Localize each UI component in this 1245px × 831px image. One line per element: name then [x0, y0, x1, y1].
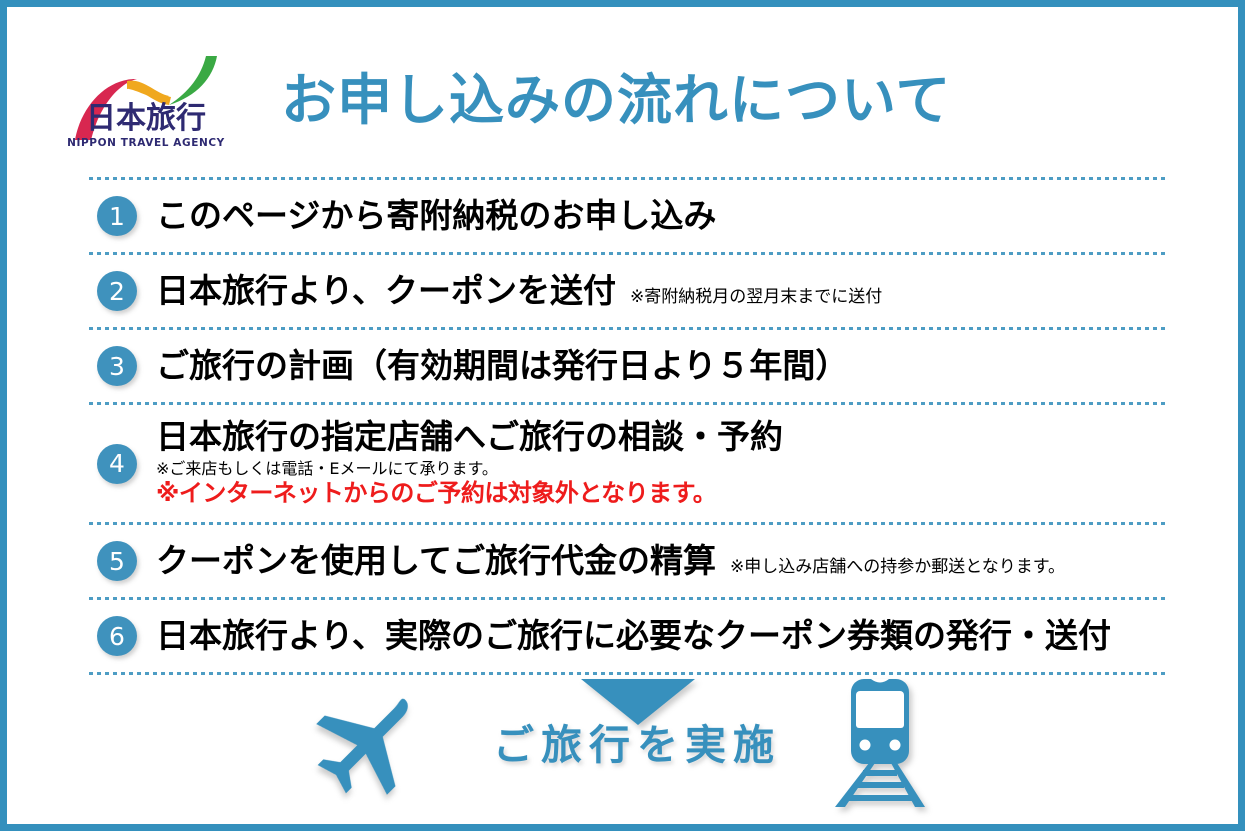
logo-svg: 日本旅行 NIPPON TRAVEL AGENCY: [65, 48, 228, 152]
step-title: 日本旅行より、クーポンを送付: [156, 273, 616, 310]
page-title: お申し込みの流れについて: [281, 73, 951, 128]
step-note: ※申し込み店舗への持参か郵送となります。: [730, 559, 1065, 576]
nippon-travel-agency-logo: 日本旅行 NIPPON TRAVEL AGENCY: [65, 48, 228, 152]
bottom-caption: ご旅行を実施: [477, 723, 797, 768]
logo-jp-text: 日本旅行: [86, 101, 206, 136]
step-number-badge: 2: [97, 271, 137, 311]
step-main-line: このページから寄附納税のお申し込み: [156, 198, 716, 235]
infographic-page: 日本旅行 NIPPON TRAVEL AGENCY お申し込みの流れについて 1…: [0, 0, 1245, 831]
step-body: 日本旅行の指定店舗へご旅行の相談・予約 ※ご来店もしくは電話・Eメールにて承りま…: [156, 419, 783, 508]
step-number-badge: 4: [97, 444, 137, 484]
step-item: 5 クーポンを使用してご旅行代金の精算 ※申し込み店舗への持参か郵送となります。: [89, 525, 1169, 597]
step-item: 6 日本旅行より、実際のご旅行に必要なクーポン券類の発行・送付: [89, 600, 1169, 672]
step-title: クーポンを使用してご旅行代金の精算: [156, 543, 716, 580]
step-main-line: 日本旅行より、クーポンを送付 ※寄附納税月の翌月末までに送付: [156, 273, 882, 310]
step-item: 2 日本旅行より、クーポンを送付 ※寄附納税月の翌月末までに送付: [89, 255, 1169, 327]
step-item: 4 日本旅行の指定店舗へご旅行の相談・予約 ※ご来店もしくは電話・Eメールにて承…: [89, 405, 1169, 522]
step-number-badge: 3: [97, 346, 137, 386]
step-body: このページから寄附納税のお申し込み: [156, 198, 716, 235]
step-title: このページから寄附納税のお申し込み: [156, 198, 716, 235]
header: 日本旅行 NIPPON TRAVEL AGENCY お申し込みの流れについて: [65, 40, 1185, 160]
step-number-badge: 5: [97, 541, 137, 581]
step-title: 日本旅行より、実際のご旅行に必要なクーポン券類の発行・送付: [156, 618, 1111, 655]
step-main-line: クーポンを使用してご旅行代金の精算 ※申し込み店舗への持参か郵送となります。: [156, 543, 1065, 580]
step-number-badge: 6: [97, 616, 137, 656]
step-body: クーポンを使用してご旅行代金の精算 ※申し込み店舗への持参か郵送となります。: [156, 543, 1065, 580]
train-icon: [833, 677, 933, 812]
step-body: 日本旅行より、クーポンを送付 ※寄附納税月の翌月末までに送付: [156, 273, 882, 310]
step-main-line: 日本旅行の指定店舗へご旅行の相談・予約: [156, 419, 783, 456]
step-main-line: ご旅行の計画（有効期間は発行日より５年間）: [156, 348, 848, 385]
step-item: 3 ご旅行の計画（有効期間は発行日より５年間）: [89, 330, 1169, 402]
logo-en-text: NIPPON TRAVEL AGENCY: [67, 137, 225, 149]
airplane-icon: [310, 681, 430, 801]
steps-list: 1 このページから寄附納税のお申し込み 2 日本旅行より、クーポンを送付 ※寄附…: [89, 177, 1169, 675]
down-arrow-icon: [573, 677, 703, 727]
step-number-badge: 1: [97, 196, 137, 236]
step-body: 日本旅行より、実際のご旅行に必要なクーポン券類の発行・送付: [156, 618, 1111, 655]
step-title: ご旅行の計画（有効期間は発行日より５年間）: [156, 348, 848, 385]
step-warning-note: ※インターネットからのご予約は対象外となります。: [156, 480, 783, 508]
step-main-line: 日本旅行より、実際のご旅行に必要なクーポン券類の発行・送付: [156, 618, 1111, 655]
step-body: ご旅行の計画（有効期間は発行日より５年間）: [156, 348, 848, 385]
step-note: ※寄附納税月の翌月末までに送付: [630, 289, 882, 306]
bottom-illustration-row: ご旅行を実施: [7, 667, 1245, 827]
step-title: 日本旅行の指定店舗へご旅行の相談・予約: [156, 419, 783, 456]
step-sub-note: ※ご来店もしくは電話・Eメールにて承ります。: [156, 459, 783, 478]
step-item: 1 このページから寄附納税のお申し込み: [89, 180, 1169, 252]
